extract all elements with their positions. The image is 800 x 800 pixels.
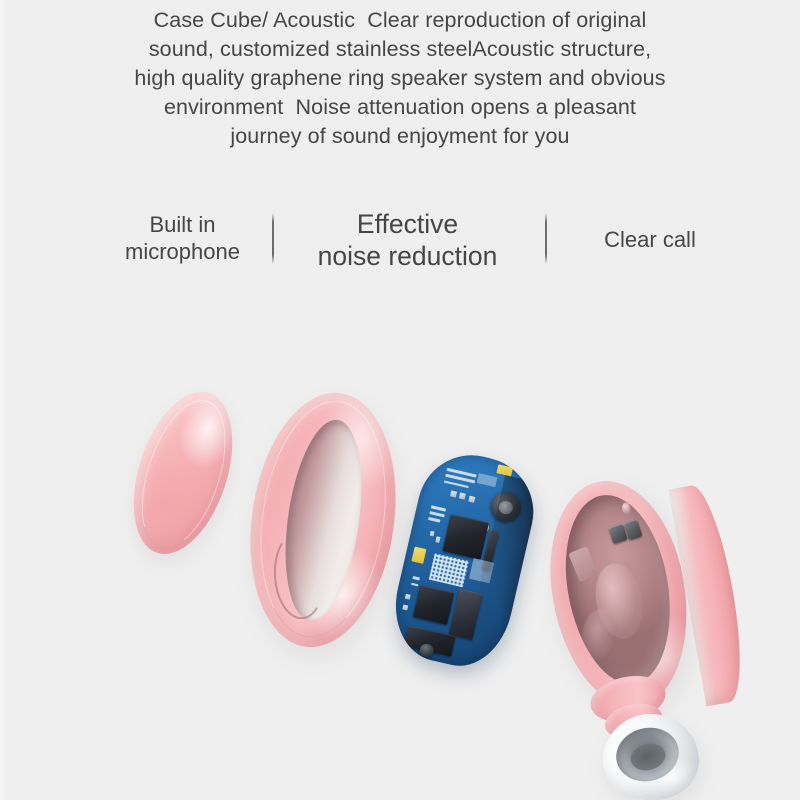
feature-label-line-1: Clear call	[560, 227, 740, 254]
component-ring-shell-image	[235, 383, 411, 656]
component-earbud-housing-image	[545, 480, 735, 800]
feature-divider-1	[272, 213, 274, 264]
headline-paragraph: Case Cube/ Acoustic Clear reproduction o…	[0, 6, 800, 151]
headline-line-1: Case Cube/ Acoustic Clear reproduction o…	[0, 6, 800, 35]
circuit-board-substrate	[384, 445, 544, 676]
headline-line-4: environment Noise attenuation opens a pl…	[0, 93, 800, 122]
component-oval-cap-image	[115, 380, 251, 567]
feature-label-line-1: Effective	[290, 208, 525, 240]
headline-line-5: journey of sound enjoyment for you	[0, 122, 800, 151]
feature-row: Built in microphone Effective noise redu…	[0, 205, 800, 285]
earbud-interior-cavity	[552, 486, 684, 692]
feature-label-line-1: Built in	[95, 212, 270, 239]
component-circuit-board-image	[384, 445, 544, 676]
earbud-interior-ridge	[568, 547, 598, 583]
feature-label-line-2: microphone	[95, 239, 270, 266]
feature-divider-2	[545, 213, 547, 264]
feature-built-in-microphone: Built in microphone	[95, 212, 270, 266]
headline-line-3: high quality graphene ring speaker syste…	[0, 64, 800, 93]
headline-line-2: sound, customized stainless steelAcousti…	[0, 35, 800, 64]
feature-clear-call: Clear call	[560, 227, 740, 254]
component-ear-tip-image	[603, 714, 699, 800]
feature-label-line-2: noise reduction	[290, 240, 525, 272]
feature-effective-noise-reduction: Effective noise reduction	[290, 208, 525, 273]
earbud-microphone-pinhole	[621, 502, 631, 515]
